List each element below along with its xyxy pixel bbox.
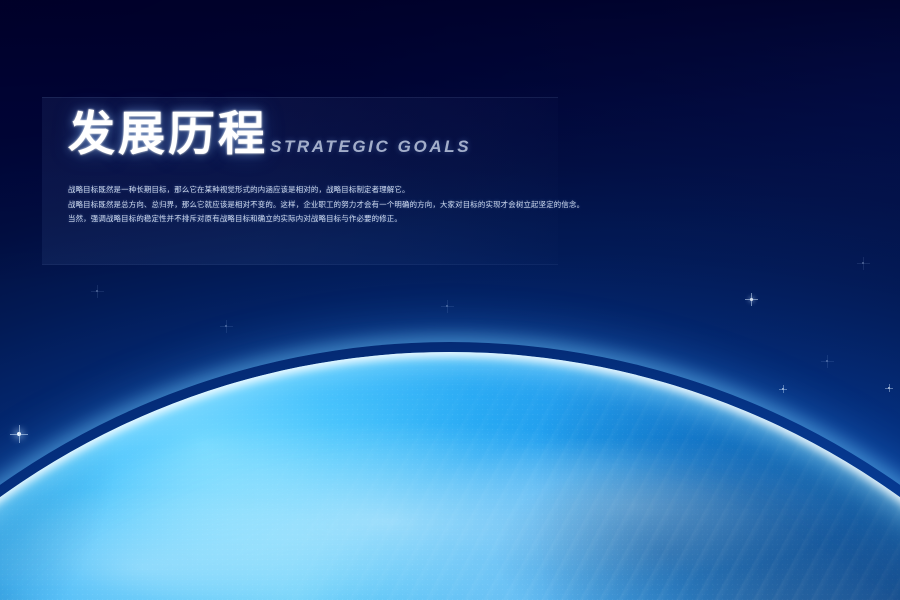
page-subtitle: STRATEGIC GOALS bbox=[270, 137, 471, 157]
body-line-2: 战略目标既然是总方向、总归界，那么它就应该是相对不变的。这样，企业职工的努力才会… bbox=[68, 198, 588, 213]
body-line-1: 战略目标既然是一种长期目标，那么它在某种视觉形式的内涵应该是相对的，战略目标制定… bbox=[68, 183, 538, 198]
strategic-goals-banner: 发展历程 STRATEGIC GOALS 战略目标既然是一种长期目标，那么它在某… bbox=[0, 0, 900, 600]
body-line-3: 当然，强调战略目标的稳定性并不排斥对原有战略目标和确立的实际内对战略目标与作必要… bbox=[68, 212, 538, 227]
headline: 发展历程 STRATEGIC GOALS bbox=[68, 112, 471, 159]
page-title: 发展历程 bbox=[68, 112, 268, 159]
body-copy: 战略目标既然是一种长期目标，那么它在某种视觉形式的内涵应该是相对的，战略目标制定… bbox=[68, 183, 538, 227]
